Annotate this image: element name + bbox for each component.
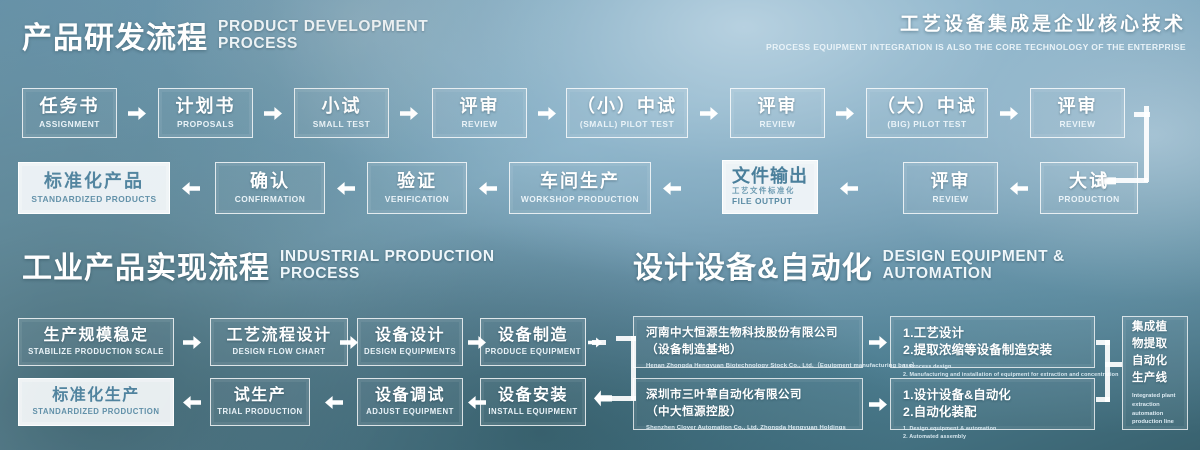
- flow-box-cn: 评审: [460, 97, 500, 115]
- flow-box-review-1[interactable]: 评审 REVIEW: [432, 88, 527, 138]
- result-box-integrated-line[interactable]: 集成植物提取自动化生产线 Integrated plant extraction…: [1122, 316, 1188, 430]
- flow-box-sub: 工艺文件标准化: [732, 187, 795, 196]
- section-title-industrial-cn: 工业产品实现流程: [22, 254, 270, 284]
- arrow-left-icon: [183, 394, 201, 410]
- ind-box-en: STANDARDIZED PRODUCTION: [32, 408, 159, 417]
- flow-box-cn: 标准化产品: [44, 172, 144, 190]
- flow-box-big-pilot-test[interactable]: （大）中试 (BIG) PILOT TEST: [866, 88, 988, 138]
- task-line-1: 1.设计设备&自动化: [903, 387, 1084, 404]
- ind-box-en: DESIGN EQUIPMENTS: [364, 348, 456, 357]
- tagline: 工艺设备集成是企业核心技术 PROCESS EQUIPMENT INTEGRAT…: [766, 14, 1186, 52]
- arrow-right-icon: [183, 334, 201, 350]
- section-title-industrial: 工业产品实现流程 INDUSTRIAL PRODUCTION PROCESS: [22, 248, 540, 284]
- task-line-1: 1.工艺设计: [903, 325, 1084, 342]
- page-title-en: PRODUCT DEVELOPMENT PROCESS: [218, 18, 478, 54]
- flow-box-cn: 验证: [397, 172, 437, 190]
- flow-box-assignment[interactable]: 任务书 ASSIGNMENT: [22, 88, 117, 138]
- task-line-2-en: 2. Automated assembly: [903, 434, 1084, 442]
- flow-box-en: (SMALL) PILOT TEST: [580, 120, 674, 129]
- company-box-henan-zhongda-hengyuan[interactable]: 河南中大恒源生物科技股份有限公司 （设备制造基地） Henan Zhongda …: [633, 316, 863, 368]
- flow-box-en: PROPOSALS: [177, 120, 234, 129]
- arrow-right-icon: [869, 396, 887, 412]
- arrow-right-icon: [538, 105, 556, 121]
- ind-box-cn: 生产规模稳定: [43, 328, 148, 344]
- result-box-en: Integrated plant extraction automation p…: [1132, 392, 1178, 427]
- flow-box-confirmation[interactable]: 确认 CONFIRMATION: [215, 162, 325, 214]
- company-sub-cn: （中大恒源控股）: [646, 404, 852, 421]
- arrow-left-icon: [663, 180, 681, 196]
- flow-box-file-output[interactable]: 文件输出 工艺文件标准化 FILE OUTPUT: [722, 160, 818, 214]
- company-box-shenzhen-clover[interactable]: 深圳市三叶草自动化有限公司 （中大恒源控股） Shenzhen Clover A…: [633, 378, 863, 430]
- flow-connector-wrap: [1134, 104, 1196, 190]
- flow-box-en: PRODUCTION: [1058, 195, 1119, 204]
- ind-box-produce-equipment[interactable]: 设备制造 PRODUCE EQUIPMENT: [480, 318, 586, 366]
- section-title-design: 设计设备&自动化 DESIGN EQUIPMENT & AUTOMATION: [633, 248, 1153, 284]
- flow-box-en: CONFIRMATION: [235, 195, 306, 204]
- flow-box-en: REVIEW: [932, 195, 968, 204]
- ind-box-cn: 设备制造: [498, 328, 568, 344]
- ind-box-en: DESIGN FLOW CHART: [233, 348, 326, 357]
- section-title-design-en: DESIGN EQUIPMENT & AUTOMATION: [883, 248, 1153, 284]
- section-title-industrial-en: INDUSTRIAL PRODUCTION PROCESS: [280, 248, 540, 284]
- flow-box-en: STANDARDIZED PRODUCTS: [31, 195, 156, 204]
- flow-box-cn: 文件输出: [732, 167, 808, 185]
- flow-box-small-test[interactable]: 小试 SMALL TEST: [294, 88, 389, 138]
- flow-box-small-pilot-test[interactable]: （小）中试 (SMALL) PILOT TEST: [566, 88, 688, 138]
- task-box-process-design[interactable]: 1.工艺设计 2.提取浓缩等设备制造安装 1. Process design 2…: [890, 316, 1095, 368]
- arrow-right-icon: [700, 105, 718, 121]
- ind-box-en: TRIAL PRODUCTION: [217, 408, 302, 417]
- arrow-right-icon: [340, 334, 358, 350]
- task-line-2: 2.提取浓缩等设备制造安装: [903, 342, 1084, 359]
- page-title-cn: 产品研发流程: [22, 24, 208, 54]
- ind-box-standardized-production[interactable]: 标准化生产 STANDARDIZED PRODUCTION: [18, 378, 174, 426]
- ind-box-cn: 设备设计: [375, 328, 445, 344]
- flow-box-cn: 评审: [931, 172, 971, 190]
- arrow-right-icon: [400, 105, 418, 121]
- flow-box-en: ASSIGNMENT: [39, 120, 100, 129]
- arrow-left-icon: [337, 180, 355, 196]
- flow-box-en: VERIFICATION: [385, 195, 449, 204]
- flow-box-workshop-production[interactable]: 车间生产 WORKSHOP PRODUCTION: [509, 162, 651, 214]
- arrow-right-icon: [1000, 105, 1018, 121]
- flow-box-review-2[interactable]: 评审 REVIEW: [730, 88, 825, 138]
- ind-box-en: STABILIZE PRODUCTION SCALE: [28, 348, 164, 357]
- arrow-left-icon: [479, 180, 497, 196]
- flow-box-en: (BIG) PILOT TEST: [887, 120, 966, 129]
- flow-box-verification[interactable]: 验证 VERIFICATION: [367, 162, 467, 214]
- flow-box-cn: 评审: [758, 97, 798, 115]
- flow-box-proposals[interactable]: 计划书 PROPOSALS: [158, 88, 253, 138]
- flow-box-production[interactable]: 大试 PRODUCTION: [1040, 162, 1138, 214]
- task-line-1-en: 1. Design equipment & automation: [903, 426, 1084, 434]
- page-title-product-development: 产品研发流程 PRODUCT DEVELOPMENT PROCESS: [22, 18, 478, 54]
- flow-box-review-3[interactable]: 评审 REVIEW: [1030, 88, 1125, 138]
- design-merge-connector: [1096, 334, 1124, 416]
- company-name-en: Shenzhen Clover Automation Co., Ltd. Zho…: [646, 425, 852, 432]
- poster-canvas: 产品研发流程 PRODUCT DEVELOPMENT PROCESS 工艺设备集…: [0, 0, 1200, 450]
- arrow-left-icon: [1010, 180, 1028, 196]
- flow-box-en: FILE OUTPUT: [732, 197, 792, 206]
- arrow-left-icon: [325, 394, 343, 410]
- flow-box-cn: （大）中试: [877, 97, 977, 115]
- flow-box-cn: 评审: [1058, 97, 1098, 115]
- result-box-cn: 集成植物提取自动化生产线: [1132, 319, 1178, 387]
- ind-box-design-flow-chart[interactable]: 工艺流程设计 DESIGN FLOW CHART: [210, 318, 348, 366]
- ind-box-cn: 设备安装: [498, 388, 568, 404]
- ind-box-cn: 设备调试: [375, 388, 445, 404]
- company-name-en: Henan Zhongda Hengyuan Biotechnology Sto…: [646, 363, 852, 370]
- ind-box-cn: 工艺流程设计: [226, 328, 331, 344]
- ind-box-adjust-equipment[interactable]: 设备调试 ADJUST EQUIPMENT: [357, 378, 463, 426]
- section-title-design-cn: 设计设备&自动化: [633, 254, 873, 284]
- ind-box-en: PRODUCE EQUIPMENT: [485, 348, 581, 357]
- flow-box-en: REVIEW: [461, 120, 497, 129]
- task-line-1-en: 1. Process design: [903, 364, 1084, 372]
- flow-box-standardized-products[interactable]: 标准化产品 STANDARDIZED PRODUCTS: [18, 162, 170, 214]
- flow-box-en: REVIEW: [1059, 120, 1095, 129]
- tagline-cn: 工艺设备集成是企业核心技术: [766, 14, 1186, 37]
- company-name-cn: 深圳市三叶草自动化有限公司: [646, 387, 852, 404]
- ind-box-trial-production[interactable]: 试生产 TRIAL PRODUCTION: [210, 378, 310, 426]
- flow-box-cn: 任务书: [40, 97, 100, 115]
- ind-box-cn: 标准化生产: [52, 388, 140, 404]
- tagline-en: PROCESS EQUIPMENT INTEGRATION IS ALSO TH…: [766, 42, 1186, 52]
- task-box-design-automation[interactable]: 1.设计设备&自动化 2.自动化装配 1. Design equipment &…: [890, 378, 1095, 430]
- arrow-right-icon: [836, 105, 854, 121]
- ind-box-install-equipment[interactable]: 设备安装 INSTALL EQUIPMENT: [480, 378, 586, 426]
- flow-box-cn: 确认: [250, 172, 290, 190]
- flow-box-en: REVIEW: [759, 120, 795, 129]
- flow-box-cn: 大试: [1069, 172, 1109, 190]
- flow-box-cn: （小）中试: [577, 97, 677, 115]
- flow-box-en: WORKSHOP PRODUCTION: [521, 195, 639, 204]
- flow-box-cn: 车间生产: [540, 172, 620, 190]
- ind-box-stabilize-production-scale[interactable]: 生产规模稳定 STABILIZE PRODUCTION SCALE: [18, 318, 174, 366]
- flow-box-cn: 计划书: [176, 97, 236, 115]
- ind-box-en: INSTALL EQUIPMENT: [488, 408, 577, 417]
- arrow-left-icon: [840, 180, 858, 196]
- arrow-right-icon: [128, 105, 146, 121]
- ind-box-design-equipments[interactable]: 设备设计 DESIGN EQUIPMENTS: [357, 318, 463, 366]
- arrow-right-icon: [264, 105, 282, 121]
- ind-box-en: ADJUST EQUIPMENT: [366, 408, 454, 417]
- arrow-left-icon: [182, 180, 200, 196]
- flow-box-cn: 小试: [322, 97, 362, 115]
- arrow-right-icon: [869, 334, 887, 350]
- flow-box-en: SMALL TEST: [313, 120, 370, 129]
- flow-box-review-4[interactable]: 评审 REVIEW: [903, 162, 998, 214]
- task-line-2: 2.自动化装配: [903, 404, 1084, 421]
- company-sub-cn: （设备制造基地）: [646, 342, 852, 359]
- company-name-cn: 河南中大恒源生物科技股份有限公司: [646, 325, 852, 342]
- ind-box-cn: 试生产: [234, 388, 287, 404]
